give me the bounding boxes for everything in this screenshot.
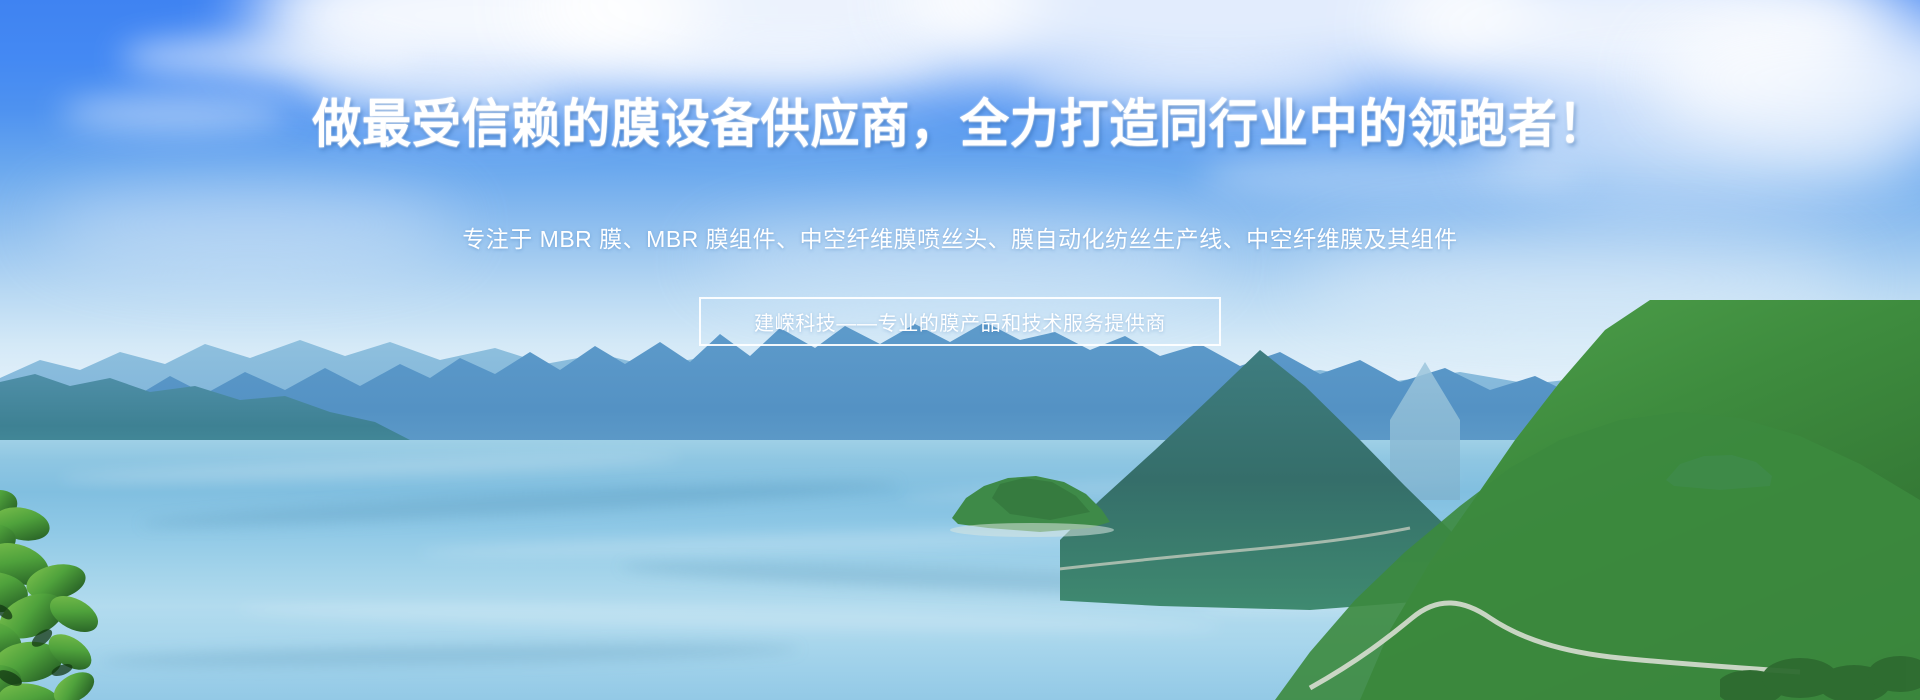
- tagline-box: 建嵘科技——专业的膜产品和技术服务提供商: [699, 297, 1221, 346]
- banner-headline: 做最受信赖的膜设备供应商，全力打造同行业中的领跑者！: [58, 96, 1863, 154]
- tagline-text: 建嵘科技——专业的膜产品和技术服务提供商: [754, 307, 1166, 336]
- banner-subheadline: 专注于 MBR 膜、MBR 膜组件、中空纤维膜喷丝头、膜自动化纺丝生产线、中空纤…: [0, 224, 1920, 254]
- hero-banner: 做最受信赖的膜设备供应商，全力打造同行业中的领跑者！ 专注于 MBR 膜、MBR…: [0, 0, 1920, 700]
- banner-copy: 做最受信赖的膜设备供应商，全力打造同行业中的领跑者！ 专注于 MBR 膜、MBR…: [0, 0, 1920, 700]
